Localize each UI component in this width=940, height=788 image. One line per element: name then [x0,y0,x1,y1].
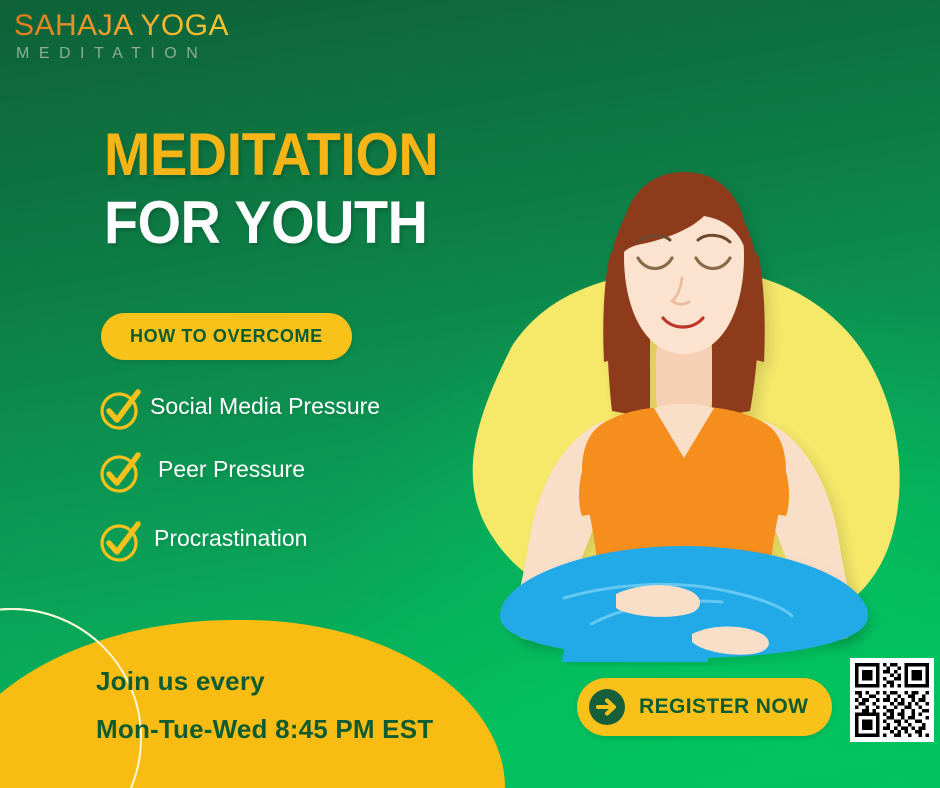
arrow-right-circle-icon [588,688,626,726]
schedule-line-2: Mon-Tue-Wed 8:45 PM EST [96,716,433,742]
list-item-label: Peer Pressure [158,449,305,486]
schedule-text: Join us every Mon-Tue-Wed 8:45 PM EST [96,668,433,742]
logo-main-text: SAHAJA YOGA [14,10,229,42]
poster-canvas: SAHAJA YOGA MEDITATION MEDITATION FOR YO… [0,0,940,788]
list-item: Procrastination [98,518,428,564]
list-item: Social Media Pressure [98,386,428,432]
headline-line-2: FOR YOUTH [104,194,438,252]
list-item-label: Procrastination [154,518,307,555]
how-to-overcome-badge: HOW TO OVERCOME [101,313,352,360]
list-item: Peer Pressure [98,449,428,495]
benefits-checklist: Social Media Pressure Peer Pressure Proc… [98,386,428,581]
page-title: MEDITATION FOR YOUTH [104,126,463,251]
qr-code-icon[interactable] [850,658,934,742]
schedule-line-1: Join us every [96,668,433,694]
check-circle-icon [98,449,144,495]
register-now-button[interactable]: REGISTER NOW [577,678,832,736]
meditating-woman-illustration [392,106,940,666]
headline-line-1: MEDITATION [104,126,438,184]
brand-logo: SAHAJA YOGA MEDITATION [14,10,229,63]
check-circle-icon [98,386,144,432]
list-item-label: Social Media Pressure [150,386,380,423]
register-now-label: REGISTER NOW [639,695,808,719]
logo-sub-text: MEDITATION [16,45,229,63]
check-circle-icon [98,518,144,564]
